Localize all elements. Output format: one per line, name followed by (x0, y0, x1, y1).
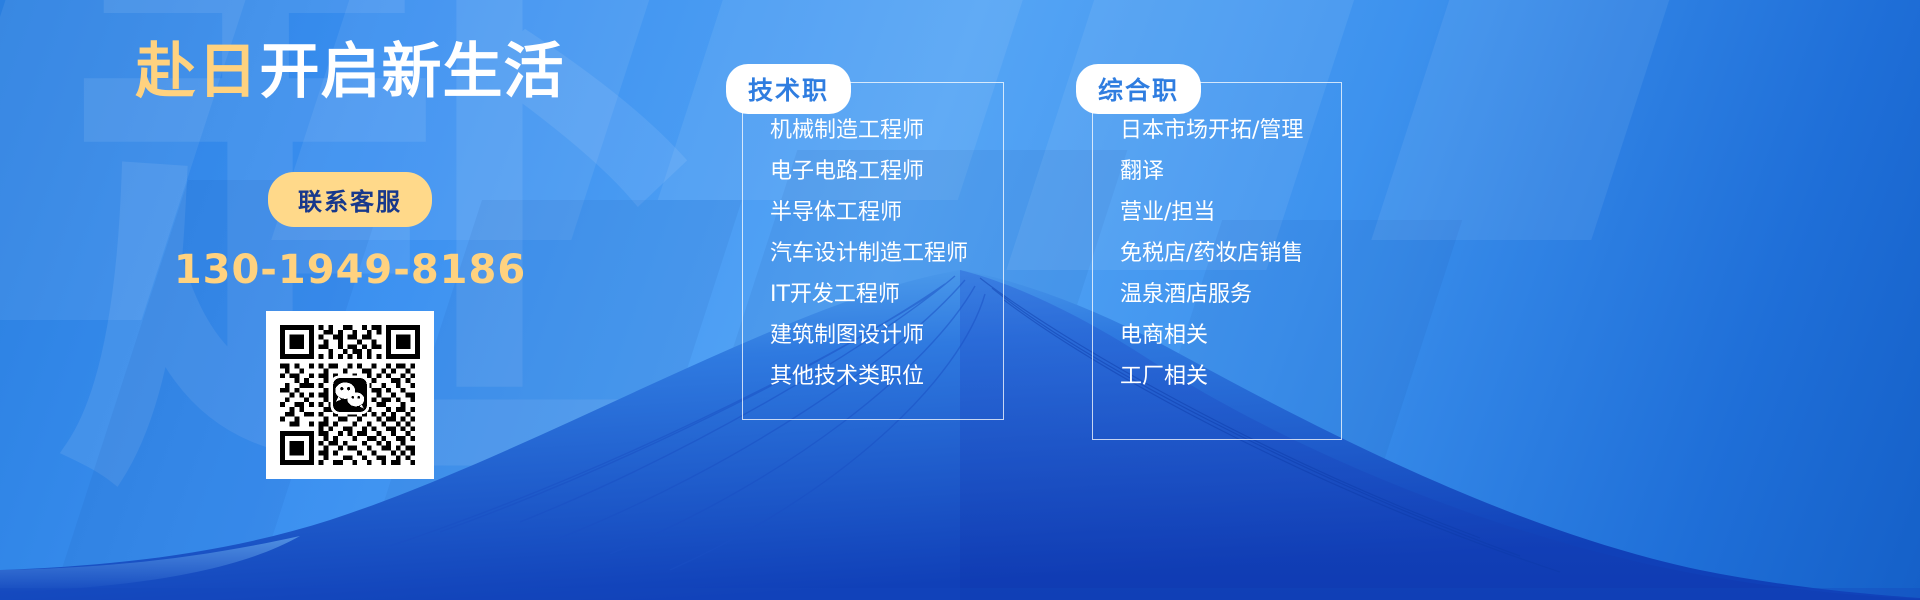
list-item[interactable]: 日本市场开拓/管理 (1120, 120, 1342, 142)
headline-highlight: 赴日 (136, 37, 260, 107)
list-item[interactable]: 电子电路工程师 (770, 161, 1004, 183)
list-item[interactable]: 温泉酒店服务 (1120, 284, 1342, 306)
list-item[interactable]: 其他技术类职位 (770, 366, 1004, 388)
list-item[interactable]: 半导体工程师 (770, 202, 1004, 224)
list-item[interactable]: 建筑制图设计师 (770, 325, 1004, 347)
headline-rest: 开启新生活 (260, 37, 565, 107)
list-item[interactable]: 营业/担当 (1120, 202, 1342, 224)
job-column-technical: 技术职 机械制造工程师 电子电路工程师 半导体工程师 汽车设计制造工程师 IT开… (742, 64, 1004, 407)
list-item[interactable]: 机械制造工程师 (770, 120, 1004, 142)
wechat-qr-code[interactable] (266, 311, 434, 479)
list-item[interactable]: 电商相关 (1120, 325, 1342, 347)
qr-code-icon (280, 325, 420, 465)
list-item[interactable]: 免税店/药妆店销售 (1120, 243, 1342, 265)
phone-number: 130-1949-8186 (174, 247, 526, 293)
promo-banner: 赴 (0, 0, 1920, 600)
page-title: 赴日开启新生活 (136, 42, 565, 102)
list-item[interactable]: 工厂相关 (1120, 366, 1342, 388)
job-category-badge-general: 综合职 (1076, 64, 1201, 114)
bg-slab-9 (1371, 0, 1688, 240)
job-category-badge-technical: 技术职 (726, 64, 851, 114)
list-item[interactable]: 汽车设计制造工程师 (770, 243, 1004, 265)
list-item[interactable]: 翻译 (1120, 161, 1342, 183)
job-column-general: 综合职 日本市场开拓/管理 翻译 营业/担当 免税店/药妆店销售 温泉酒店服务 … (1092, 64, 1342, 407)
left-content: 赴日开启新生活 联系客服 130-1949-8186 (0, 0, 700, 600)
list-item[interactable]: IT开发工程师 (770, 284, 1004, 306)
contact-support-button[interactable]: 联系客服 (268, 172, 432, 227)
